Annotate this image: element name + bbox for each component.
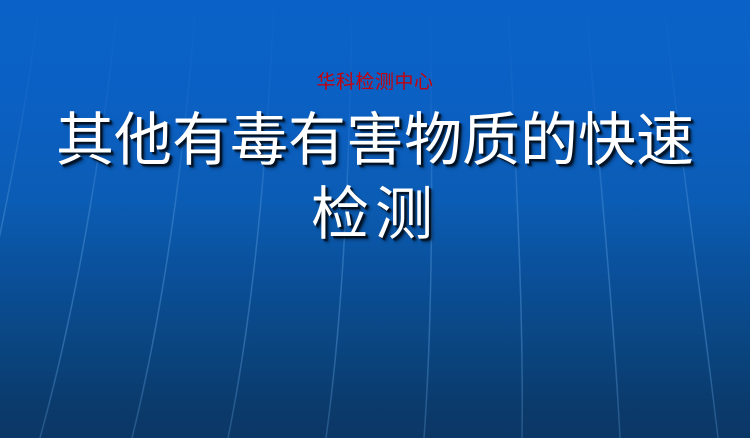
- presentation-slide: 华科检测中心 其他有毒有害物质的快速 检测: [0, 0, 750, 438]
- title-line-1: 其他有毒有害物质的快速: [25, 104, 725, 178]
- title-line-2: 检测: [25, 178, 725, 252]
- slide-text-stack: 华科检测中心 其他有毒有害物质的快速 检测: [0, 0, 750, 438]
- organization-label: 华科检测中心: [316, 72, 433, 94]
- page-title: 其他有毒有害物质的快速 检测: [25, 104, 725, 252]
